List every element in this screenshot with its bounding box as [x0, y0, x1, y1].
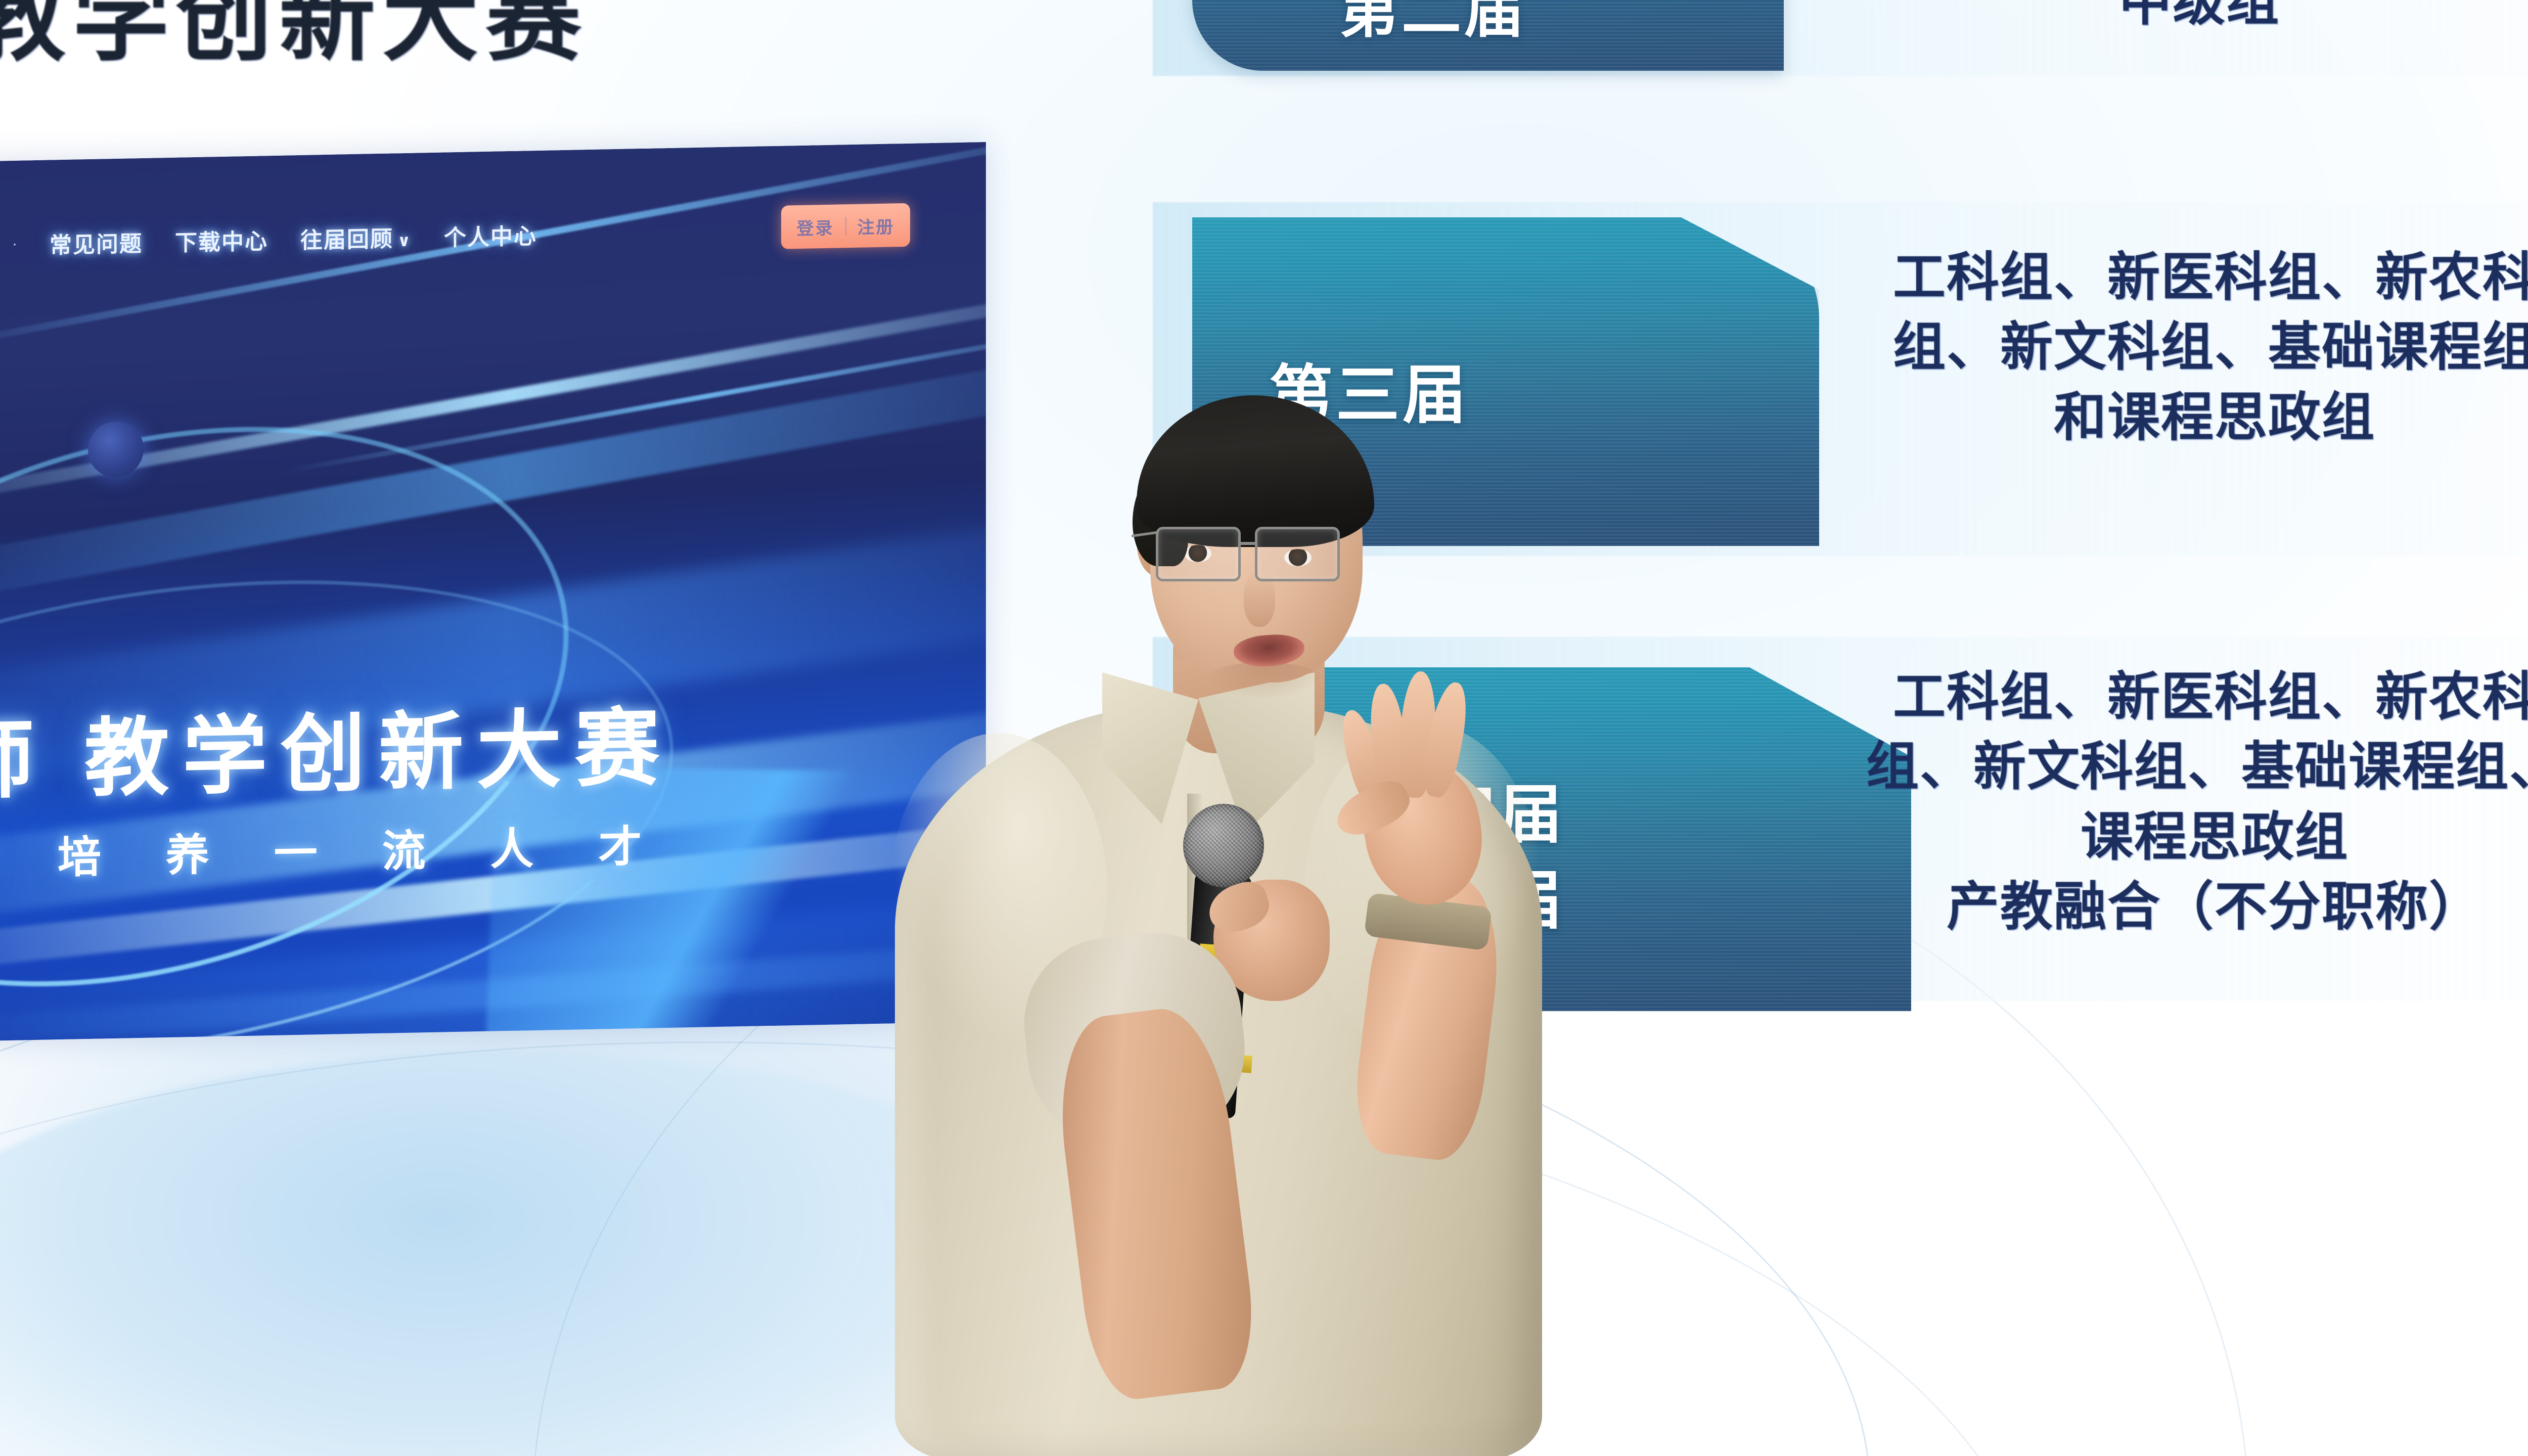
row-2-line-2: 组、新文科组、基础课程组 [1820, 312, 2528, 382]
nav-item-personal-center[interactable]: 个人中心 [444, 218, 537, 252]
led-screen-panel: 问 · 常见问题 下载中心 往届回顾∨ 个人中心 登录 注册 师 教学创新大赛 … [0, 142, 986, 1041]
chevron-down-icon: ∨ [397, 231, 412, 251]
row-3-line-3: 课程思政组 [1820, 802, 2528, 872]
wall-headline: 教学创新大赛 [0, 0, 829, 79]
edition-tab-1-label: 第二届 [1339, 0, 1527, 49]
chin-shadow [1203, 662, 1325, 698]
gesturing-hand [1330, 662, 1542, 976]
speaker-figure [860, 349, 1618, 1456]
row-3-line-2: 组、新文科组、基础课程组、 [1820, 732, 2528, 802]
row-2-line-1: 工科组、新医科组、新农科 [1820, 243, 2528, 312]
row-3-line-4: 产教融合（不分职称） [1820, 872, 2528, 942]
glasses-lens-right [1255, 527, 1340, 581]
row-1-groups: 中级组 [1810, 0, 2528, 37]
auth-buttons-group[interactable]: 登录 注册 [781, 203, 910, 249]
register-button[interactable]: 注册 [846, 212, 906, 238]
glasses-lens-left [1156, 527, 1241, 581]
row-3-groups: 工科组、新医科组、新农科 组、新文科组、基础课程组、 课程思政组 产教融合（不分… [1820, 662, 2528, 942]
row-2-groups: 工科组、新医科组、新农科 组、新文科组、基础课程组 和课程思政组 [1820, 243, 2528, 452]
nav-items: 问 · 常见问题 下载中心 往届回顾∨ 个人中心 [0, 218, 537, 261]
poster-title: 师 教学创新大赛 [0, 673, 961, 815]
row-2-line-3: 和课程思政组 [1820, 383, 2528, 452]
microphone-mesh [1183, 804, 1264, 887]
nav-item-download-center[interactable]: 下载中心 [175, 223, 268, 257]
nav-item-past-review[interactable]: 往届回顾∨ [300, 220, 412, 255]
projection-stage: 教学创新大赛 问 · 常见问题 下载中心 往届回顾∨ 个人中心 [0, 0, 2528, 1456]
nav-item-faq[interactable]: 常见问题 [50, 225, 143, 260]
hair [1137, 395, 1374, 547]
nav-separator-dot: · [12, 236, 17, 253]
row-3-line-1: 工科组、新医科组、新农科 [1820, 662, 2528, 732]
login-button[interactable]: 登录 [786, 214, 845, 240]
nav-item-past-review-label: 往届回顾 [300, 226, 393, 253]
glasses-bridge [1241, 542, 1255, 545]
eyeglasses [1156, 527, 1368, 587]
